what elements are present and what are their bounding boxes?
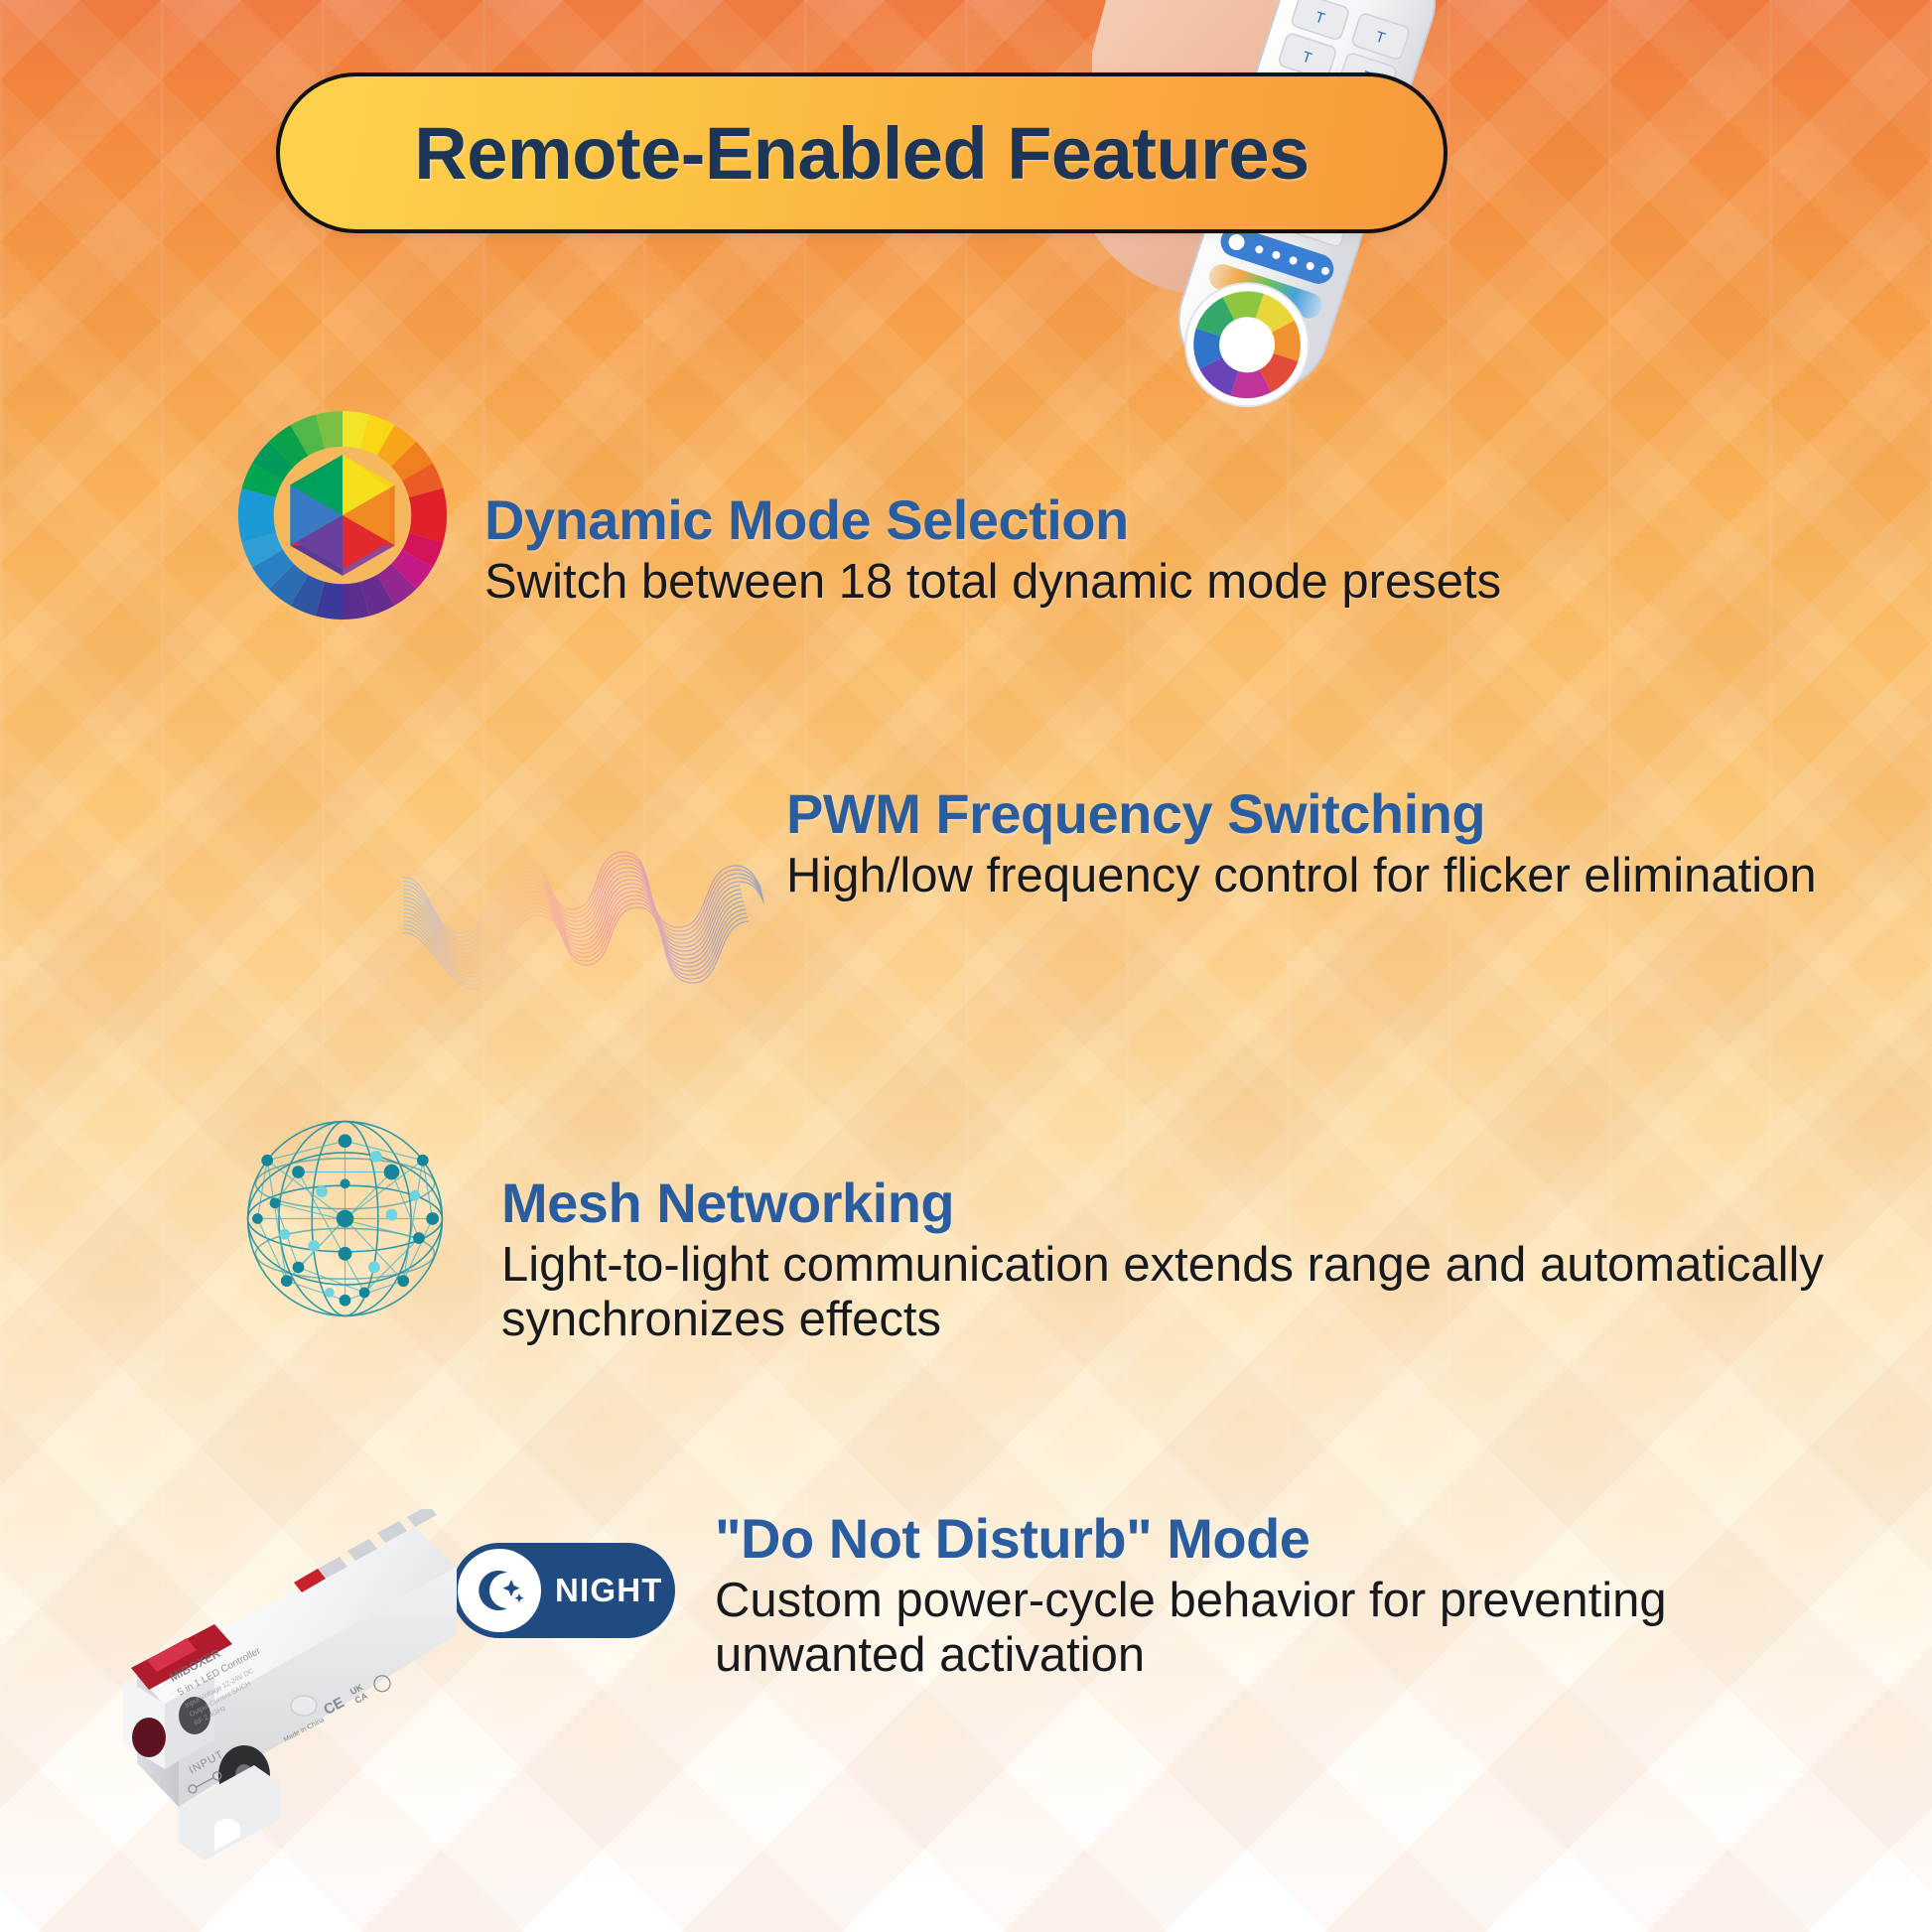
mesh-sphere-icon — [228, 1102, 462, 1335]
feature-description: Light-to-light communication extends ran… — [501, 1238, 1857, 1347]
remote-control-photo: MiBOXER TT TT — [1092, 0, 1519, 477]
infographic-poster: MiBOXER TT TT — [0, 0, 1932, 1932]
night-badge-label: NIGHT — [555, 1572, 663, 1609]
night-badge: NIGHT — [452, 1543, 675, 1638]
color-wheel-icon — [238, 411, 447, 620]
feature-text-dynamic-mode: Dynamic Mode Selection Switch between 18… — [484, 449, 1847, 610]
feature-description: High/low frequency control for flicker e… — [786, 849, 1866, 903]
feature-row-mesh-networking: Mesh Networking Light-to-light communica… — [228, 1132, 1857, 1347]
waveform-icon — [397, 822, 764, 1011]
feature-description: Custom power-cycle behavior for preventi… — [715, 1574, 1862, 1683]
feature-description: Switch between 18 total dynamic mode pre… — [484, 555, 1847, 610]
feature-text-mesh-networking: Mesh Networking Light-to-light communica… — [501, 1132, 1857, 1347]
feature-heading: Dynamic Mode Selection — [484, 490, 1847, 549]
feature-heading: PWM Frequency Switching — [786, 784, 1866, 843]
night-mode-pill: NIGHT — [452, 1543, 675, 1638]
feature-row-do-not-disturb: NIGHT "Do Not Disturb" Mode Custom power… — [452, 1509, 1862, 1683]
feature-text-pwm-frequency: PWM Frequency Switching High/low frequen… — [786, 764, 1866, 903]
feature-text-do-not-disturb: "Do Not Disturb" Mode Custom power-cycle… — [715, 1509, 1862, 1683]
feature-heading: "Do Not Disturb" Mode — [715, 1509, 1862, 1568]
led-controller-photo: MiBOXER 5 in 1 LED Controller Input Volt… — [20, 1509, 457, 1926]
title-banner: Remote-Enabled Features — [276, 72, 1448, 233]
feature-row-dynamic-mode: Dynamic Mode Selection Switch between 18… — [238, 449, 1847, 620]
feature-heading: Mesh Networking — [501, 1173, 1857, 1232]
controller-body: MiBOXER 5 in 1 LED Controller Input Volt… — [123, 1509, 457, 1861]
feature-row-pwm-frequency: PWM Frequency Switching High/low frequen… — [397, 764, 1866, 1011]
page-title: Remote-Enabled Features — [414, 111, 1309, 196]
night-moon-icon — [458, 1549, 541, 1632]
